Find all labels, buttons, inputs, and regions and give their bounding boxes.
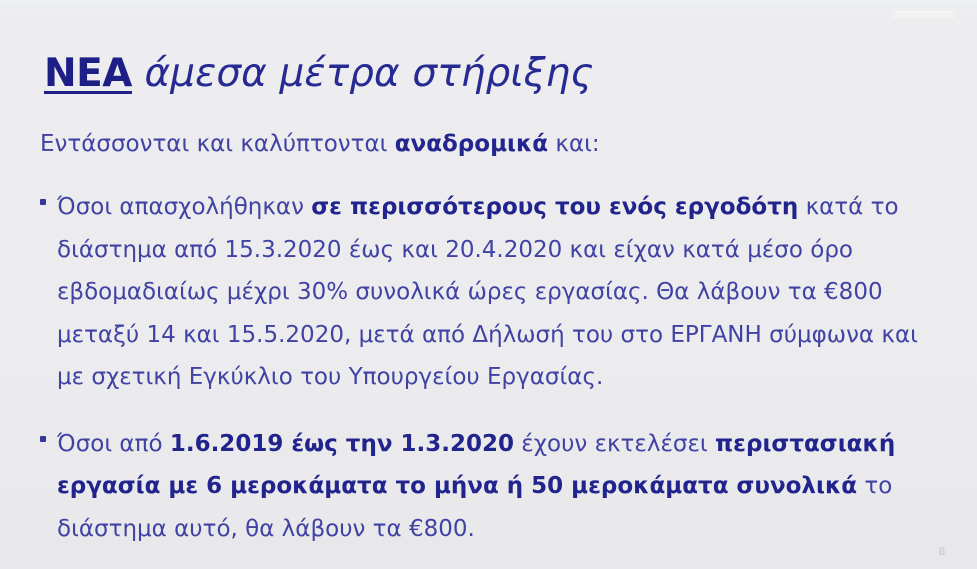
list-item: Όσοι απασχολήθηκαν σε περισσότερους του … — [38, 186, 948, 399]
text-segment: έχουν εκτελέσει — [514, 431, 715, 457]
intro-before: Εντάσσονται και καλύπτονται — [40, 131, 395, 157]
text-segment-bold: 1.6.2019 έως την 1.3.2020 — [170, 431, 514, 457]
title-rest: άμεσα μέτρα στήριξης — [132, 51, 593, 96]
text-segment: Όσοι από — [57, 431, 170, 457]
title-highlight: ΝΕΑ — [44, 51, 132, 96]
intro-paragraph: Εντάσσονται και καλύπτονται αναδρομικά κ… — [40, 130, 940, 160]
list-item-text: Όσοι απασχολήθηκαν σε περισσότερους του … — [57, 186, 948, 399]
text-segment: Όσοι απασχολήθηκαν — [57, 194, 311, 220]
square-bullet-icon — [40, 199, 46, 205]
intro-emphasis: αναδρομικά — [395, 131, 548, 157]
list-item: Όσοι από 1.6.2019 έως την 1.3.2020 έχουν… — [38, 423, 948, 551]
bullet-list: Όσοι απασχολήθηκαν σε περισσότερους του … — [38, 186, 948, 550]
square-bullet-icon — [40, 436, 46, 442]
presentation-slide: ΝΕΑ άμεσα μέτρα στήριξης Εντάσσονται και… — [0, 0, 977, 569]
text-segment: κατά το διάστημα από 15.3.2020 έως και 2… — [57, 194, 918, 390]
slide-title-container: ΝΕΑ άμεσα μέτρα στήριξης — [44, 52, 934, 96]
page-title: ΝΕΑ άμεσα μέτρα στήριξης — [44, 52, 934, 96]
page-number: 8 — [938, 545, 946, 558]
video-artifact-streak — [893, 10, 955, 19]
intro-after: και: — [548, 131, 600, 157]
list-item-text: Όσοι από 1.6.2019 έως την 1.3.2020 έχουν… — [57, 423, 948, 551]
text-segment-bold: σε περισσότερους του ενός εργοδότη — [311, 194, 798, 220]
